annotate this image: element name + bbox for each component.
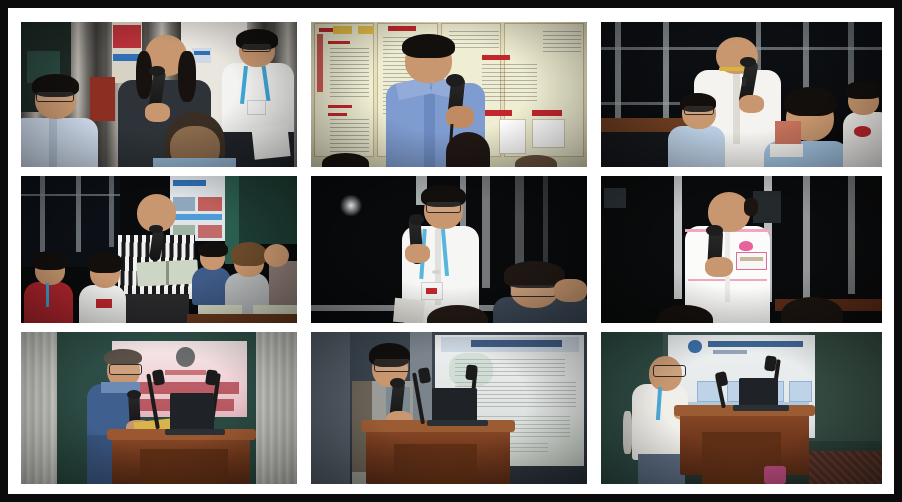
speaker-hair-grey <box>104 349 143 366</box>
seated-man-left-glasses <box>684 106 714 115</box>
gooseneck-mic-head-2 <box>205 369 218 386</box>
window-mullion-1 <box>615 22 621 126</box>
poster-red-header-4 <box>328 113 347 116</box>
photo-bottom-center[interactable]: Man with glasses in a grey vest speaking… <box>311 332 587 484</box>
photo-middle-right[interactable]: Woman in a white nurse uniform with pink… <box>601 176 882 323</box>
scene-bottom-right <box>601 332 882 484</box>
photo-top-center[interactable]: Man in periwinkle blue shirt speaking in… <box>311 22 587 167</box>
microphone-head <box>390 378 405 389</box>
photo-grid: Woman in dark top speaking into a handhe… <box>21 22 883 483</box>
poster-red-block <box>113 25 141 48</box>
logo-badge-red <box>854 126 871 136</box>
slide-title-text <box>471 340 562 348</box>
lapel-clip <box>742 77 746 86</box>
dark-window-panel <box>604 188 626 209</box>
poster-text-block-2 <box>330 119 369 154</box>
bag-pink <box>764 466 786 484</box>
notice-board-header <box>173 180 206 186</box>
light-reflection <box>339 195 364 216</box>
seated-person-orange <box>775 121 800 147</box>
foreground-hand-right <box>515 155 556 167</box>
speaker-woman-hand <box>145 103 170 122</box>
poster-white-sheet-1 <box>499 119 527 154</box>
poster-yellow-tab-1 <box>333 26 352 33</box>
nurse-hair-bun <box>744 198 758 216</box>
green-wall <box>239 176 297 244</box>
scene-middle-left <box>21 176 297 323</box>
wall-sign-stripe <box>194 51 211 55</box>
door-frame-red <box>90 77 115 121</box>
speaker-woman-hand <box>739 95 764 114</box>
scene-bottom-center <box>311 332 587 484</box>
paper-sheet-right <box>251 125 290 160</box>
microphone-head <box>149 66 164 76</box>
shirt-placket-left <box>49 118 57 167</box>
foreground-man-right-glasses <box>510 285 556 297</box>
photo-top-left[interactable]: Woman in dark top speaking into a handhe… <box>21 22 297 167</box>
window-mullion-1 <box>40 176 44 252</box>
microphone-head <box>740 57 755 67</box>
window-rail <box>21 194 120 196</box>
speaker-man-hair <box>402 34 454 59</box>
photo-bottom-right[interactable]: Woman with glasses in a white jacket sta… <box>601 332 882 484</box>
scene-top-left <box>21 22 297 167</box>
poster-white-sheet-2 <box>532 119 565 148</box>
nurse-hand <box>705 257 733 278</box>
window-frame-vertical-5 <box>543 176 549 273</box>
gooseneck-mic-head-1 <box>417 368 431 385</box>
seated-man-left-torso <box>668 126 724 167</box>
poster-red-header-8 <box>532 110 562 115</box>
notice-band <box>173 214 223 220</box>
desk-surface <box>187 314 297 323</box>
seated-person-far-right-hair <box>845 81 882 98</box>
photo-top-right[interactable]: Woman in white blouse standing and speak… <box>601 22 882 167</box>
poster-text-block-4 <box>449 31 499 51</box>
green-wall-right <box>809 332 882 441</box>
id-badge-logo <box>426 288 437 294</box>
laptop-base <box>427 420 488 426</box>
scene-middle-right <box>601 176 882 323</box>
scene-top-center <box>311 22 587 167</box>
poster-red-header-6 <box>482 55 510 59</box>
poster-red-header-2 <box>328 41 350 44</box>
door-frame-3 <box>803 176 810 299</box>
poster-text-block-6 <box>543 31 582 54</box>
speaker-woman-hair-right <box>178 51 196 102</box>
audience-far-right-head <box>264 244 289 268</box>
audience-white-badge <box>96 299 113 308</box>
speaker-arm-left <box>623 411 631 454</box>
slide-subtitle-text <box>713 350 747 354</box>
door-frame-1 <box>674 176 682 299</box>
window-mullion-2 <box>76 176 80 252</box>
person-standing-right-glasses <box>242 44 272 52</box>
notebook-spine <box>166 261 169 285</box>
laptop-screen <box>739 378 778 408</box>
audience-far-right <box>269 261 297 305</box>
photo-middle-center[interactable]: Man in white shirt with blue lanyard and… <box>311 176 587 323</box>
door-frame-4 <box>848 176 855 294</box>
scene-bottom-left <box>21 332 297 484</box>
speaker-glasses <box>109 364 141 375</box>
photo-bottom-left[interactable]: Man in a blue denim shirt with glasses s… <box>21 332 297 484</box>
poster-vertical-title <box>317 34 324 92</box>
nurse-id-badge <box>736 252 767 270</box>
audience-white-hair <box>87 252 123 273</box>
notice-photo-1 <box>173 197 195 212</box>
desk-paper <box>770 144 804 157</box>
poster-yellow-tab-2 <box>358 26 375 33</box>
audience-red-lanyard <box>46 283 50 307</box>
speaker-man-shirt-placket <box>424 87 435 167</box>
foreground-head-center <box>446 132 490 167</box>
speaker-glasses <box>374 359 409 372</box>
slide-subtitle <box>165 370 206 375</box>
scene-top-right <box>601 22 882 167</box>
foreground-hand <box>554 279 587 303</box>
person-seated-left-glasses <box>36 92 74 103</box>
microphone-head <box>409 214 424 224</box>
speaker-woman-hair-left <box>136 51 153 99</box>
poster-text-block-5 <box>482 64 537 102</box>
laptop-base <box>733 405 789 411</box>
photo-middle-left[interactable]: Woman in black and white vertical stripe… <box>21 176 297 323</box>
speaker-skirt <box>123 294 189 323</box>
laptop-screen <box>432 388 476 423</box>
window-frame-vertical-3 <box>482 176 490 288</box>
id-badge-right <box>247 100 266 115</box>
speaker-glasses <box>653 365 686 376</box>
wall-left <box>311 332 350 484</box>
poster-text-block-1 <box>330 48 369 97</box>
person-seated-left-torso <box>21 118 98 167</box>
microphone-head <box>127 390 141 399</box>
seated-person-far-right-torso <box>843 112 882 167</box>
photo-collage-frame: Woman in dark top speaking into a handhe… <box>0 0 902 502</box>
wall-panel-right <box>256 332 297 484</box>
audience-red-hair <box>32 251 68 270</box>
laptop-base <box>165 429 226 435</box>
laptop-screen <box>170 393 214 431</box>
poster-red-header-7 <box>482 110 512 115</box>
wall-panel-left <box>21 332 57 484</box>
poster-red-header-5 <box>388 26 416 30</box>
podium-base <box>140 449 228 484</box>
audience-grey-hair <box>231 242 267 266</box>
notice-photo-4 <box>198 225 223 238</box>
nurse-id-badge-text <box>740 257 762 261</box>
carpet-pattern <box>809 451 882 484</box>
seated-man-right-hair <box>784 87 837 116</box>
podium-base <box>394 444 477 484</box>
window-mullion-3 <box>109 176 113 247</box>
scene-middle-center <box>311 176 587 323</box>
foreground-collar <box>153 158 236 167</box>
gooseneck-mic-head-2 <box>465 365 478 381</box>
pink-pin-icon <box>739 241 753 251</box>
window-mullion-2 <box>663 22 669 126</box>
paper-sheet <box>393 298 425 323</box>
speaker-jeans <box>638 454 686 484</box>
poster-red-header-3 <box>328 105 353 108</box>
speaker-man-glasses <box>426 202 461 213</box>
audience-blue-hair <box>198 241 228 257</box>
slide-emblem <box>176 347 195 367</box>
slide-title-text <box>708 341 804 347</box>
notice-photo-2 <box>198 197 223 212</box>
flow-box-4 <box>789 381 811 402</box>
speaker-man-hand <box>405 244 430 263</box>
